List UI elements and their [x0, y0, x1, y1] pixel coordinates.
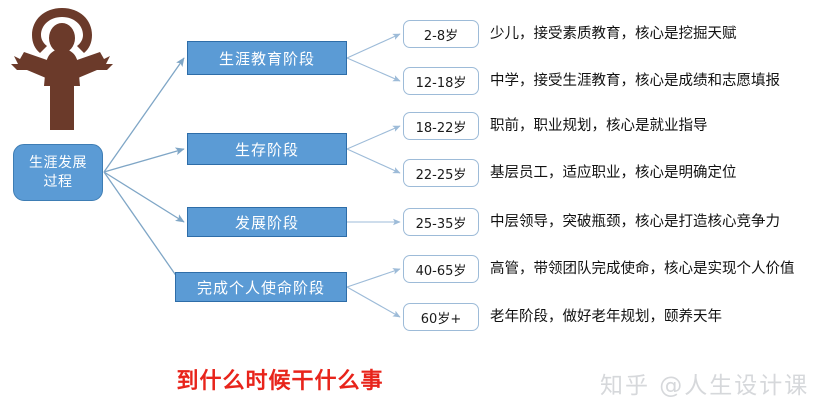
age-pill-1[interactable]: 2-8岁 [403, 20, 479, 48]
age-pill-6[interactable]: 40-65岁 [403, 255, 479, 283]
stage-box-1-label: 生涯教育阶段 [219, 48, 315, 69]
age-pill-2-label: 12-18岁 [416, 72, 467, 91]
age-pill-3-label: 18-22岁 [416, 117, 467, 136]
stage-box-3[interactable]: 发展阶段 [187, 207, 347, 237]
age-pill-1-label: 2-8岁 [424, 25, 458, 44]
stage-box-2[interactable]: 生存阶段 [187, 133, 347, 165]
age-pill-7[interactable]: 60岁+ [403, 303, 479, 331]
person-with-halo-icon [6, 2, 118, 134]
description-4: 基层员工，适应职业，核心是明确定位 [490, 163, 737, 183]
age-pill-5-label: 25-35岁 [416, 213, 467, 232]
age-pill-7-label: 60岁+ [421, 308, 461, 327]
description-2: 中学，接受生涯教育，核心是成绩和志愿填报 [490, 71, 780, 91]
root-node[interactable]: 生涯发展 过程 [13, 144, 103, 201]
description-6: 高管，带领团队完成使命，核心是实现个人价值 [490, 259, 795, 279]
age-pill-4[interactable]: 22-25岁 [403, 159, 479, 187]
stage-box-4[interactable]: 完成个人使命阶段 [175, 272, 347, 302]
stage-box-4-label: 完成个人使命阶段 [197, 277, 325, 298]
age-pill-5[interactable]: 25-35岁 [403, 208, 479, 236]
stage-box-2-label: 生存阶段 [235, 139, 299, 160]
description-3: 职前，职业规划，核心是就业指导 [490, 116, 708, 136]
description-7: 老年阶段，做好老年规划，颐养天年 [490, 307, 722, 327]
description-1: 少儿，接受素质教育，核心是挖掘天赋 [490, 24, 737, 44]
caption-title: 到什么时候干什么事 [0, 363, 560, 395]
age-pill-6-label: 40-65岁 [416, 260, 467, 279]
stage-box-1[interactable]: 生涯教育阶段 [187, 41, 347, 75]
description-5: 中层领导，突破瓶颈，核心是打造核心竞争力 [490, 212, 780, 232]
watermark: 知乎 @人生设计课 [600, 366, 809, 400]
age-pill-3[interactable]: 18-22岁 [403, 112, 479, 140]
root-node-label: 生涯发展 过程 [21, 154, 95, 192]
age-pill-2[interactable]: 12-18岁 [403, 67, 479, 95]
stage-box-3-label: 发展阶段 [235, 212, 299, 233]
age-pill-4-label: 22-25岁 [416, 164, 467, 183]
diagram-canvas: 生涯发展 过程 生涯教育阶段 生存阶段 发展阶段 完成个人使命阶段 2-8岁 1… [0, 0, 827, 409]
connector-lines [0, 0, 827, 409]
